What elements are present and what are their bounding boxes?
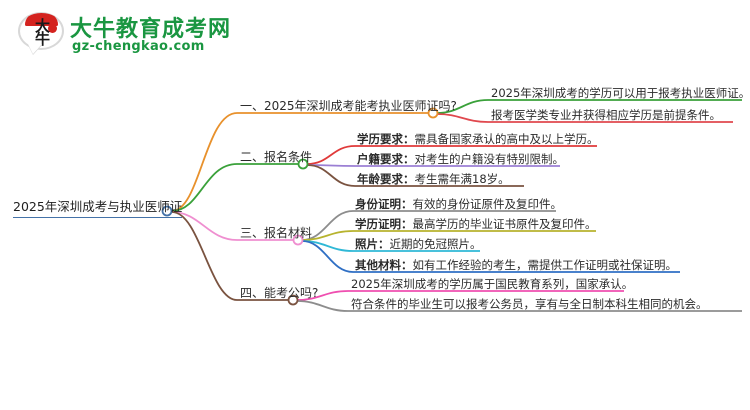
leaf-text: 如有工作经验的考生，需提供工作证明或社保证明。 — [413, 258, 678, 272]
leaf-text: 考生需年满18岁。 — [415, 172, 510, 186]
mindmap-branch-1-child-2[interactable]: 报考医学类专业并获得相应学历是前提条件。 — [491, 107, 721, 125]
mindmap-branch-2[interactable]: 二、报名条件 — [240, 148, 312, 167]
leaf-text: 2025年深圳成考的学历可以用于报考执业医师证。 — [491, 86, 750, 100]
mindmap-branch-3-child-2[interactable]: 学历证明：最高学历的毕业证书原件及复印件。 — [355, 216, 597, 234]
leaf-label: 学历证明： — [355, 217, 413, 231]
mindmap-branch-4-child-1[interactable]: 2025年深圳成考的学历属于国民教育系列，国家承认。 — [351, 276, 633, 294]
leaf-text: 最高学历的毕业证书原件及复印件。 — [413, 217, 597, 231]
leaf-label: 户籍要求： — [357, 152, 415, 166]
leaf-text: 需具备国家承认的高中及以上学历。 — [415, 132, 599, 146]
leaf-text: 近期的免冠照片。 — [390, 237, 482, 251]
mindmap: 2025年深圳成考与执业医师证 一、2025年深圳成考能考执业医师证吗? 202… — [0, 0, 750, 410]
leaf-label: 照片： — [355, 237, 390, 251]
leaf-label: 学历要求： — [357, 132, 415, 146]
mindmap-branch-2-child-1[interactable]: 学历要求：需具备国家承认的高中及以上学历。 — [357, 131, 599, 149]
mindmap-branch-3-child-4[interactable]: 其他材料：如有工作经验的考生，需提供工作证明或社保证明。 — [355, 257, 677, 275]
mindmap-branch-2-child-3[interactable]: 年龄要求：考生需年满18岁。 — [357, 171, 510, 189]
mindmap-branch-1-child-1[interactable]: 2025年深圳成考的学历可以用于报考执业医师证。 — [491, 85, 750, 103]
mindmap-branch-4[interactable]: 四、能考公吗? — [240, 284, 318, 303]
leaf-text: 有效的身份证原件及复印件。 — [413, 197, 563, 211]
leaf-text: 符合条件的毕业生可以报考公务员，享有与全日制本科生相同的机会。 — [351, 297, 708, 311]
mindmap-branch-3[interactable]: 三、报名材料 — [240, 224, 312, 243]
mindmap-branch-4-child-2[interactable]: 符合条件的毕业生可以报考公务员，享有与全日制本科生相同的机会。 — [351, 296, 708, 314]
mindmap-branch-2-child-2[interactable]: 户籍要求：对考生的户籍没有特别限制。 — [357, 151, 564, 169]
leaf-text: 报考医学类专业并获得相应学历是前提条件。 — [491, 108, 721, 122]
mindmap-branch-3-child-1[interactable]: 身份证明：有效的身份证原件及复印件。 — [355, 196, 562, 214]
leaf-label: 年龄要求： — [357, 172, 415, 186]
mindmap-branch-3-child-3[interactable]: 照片：近期的免冠照片。 — [355, 236, 482, 254]
leaf-text: 2025年深圳成考的学历属于国民教育系列，国家承认。 — [351, 277, 633, 291]
leaf-label: 身份证明： — [355, 197, 413, 211]
mindmap-branch-1[interactable]: 一、2025年深圳成考能考执业医师证吗? — [240, 97, 457, 116]
mindmap-root-node[interactable]: 2025年深圳成考与执业医师证 — [13, 196, 182, 218]
leaf-text: 对考生的户籍没有特别限制。 — [415, 152, 565, 166]
leaf-label: 其他材料： — [355, 258, 413, 272]
